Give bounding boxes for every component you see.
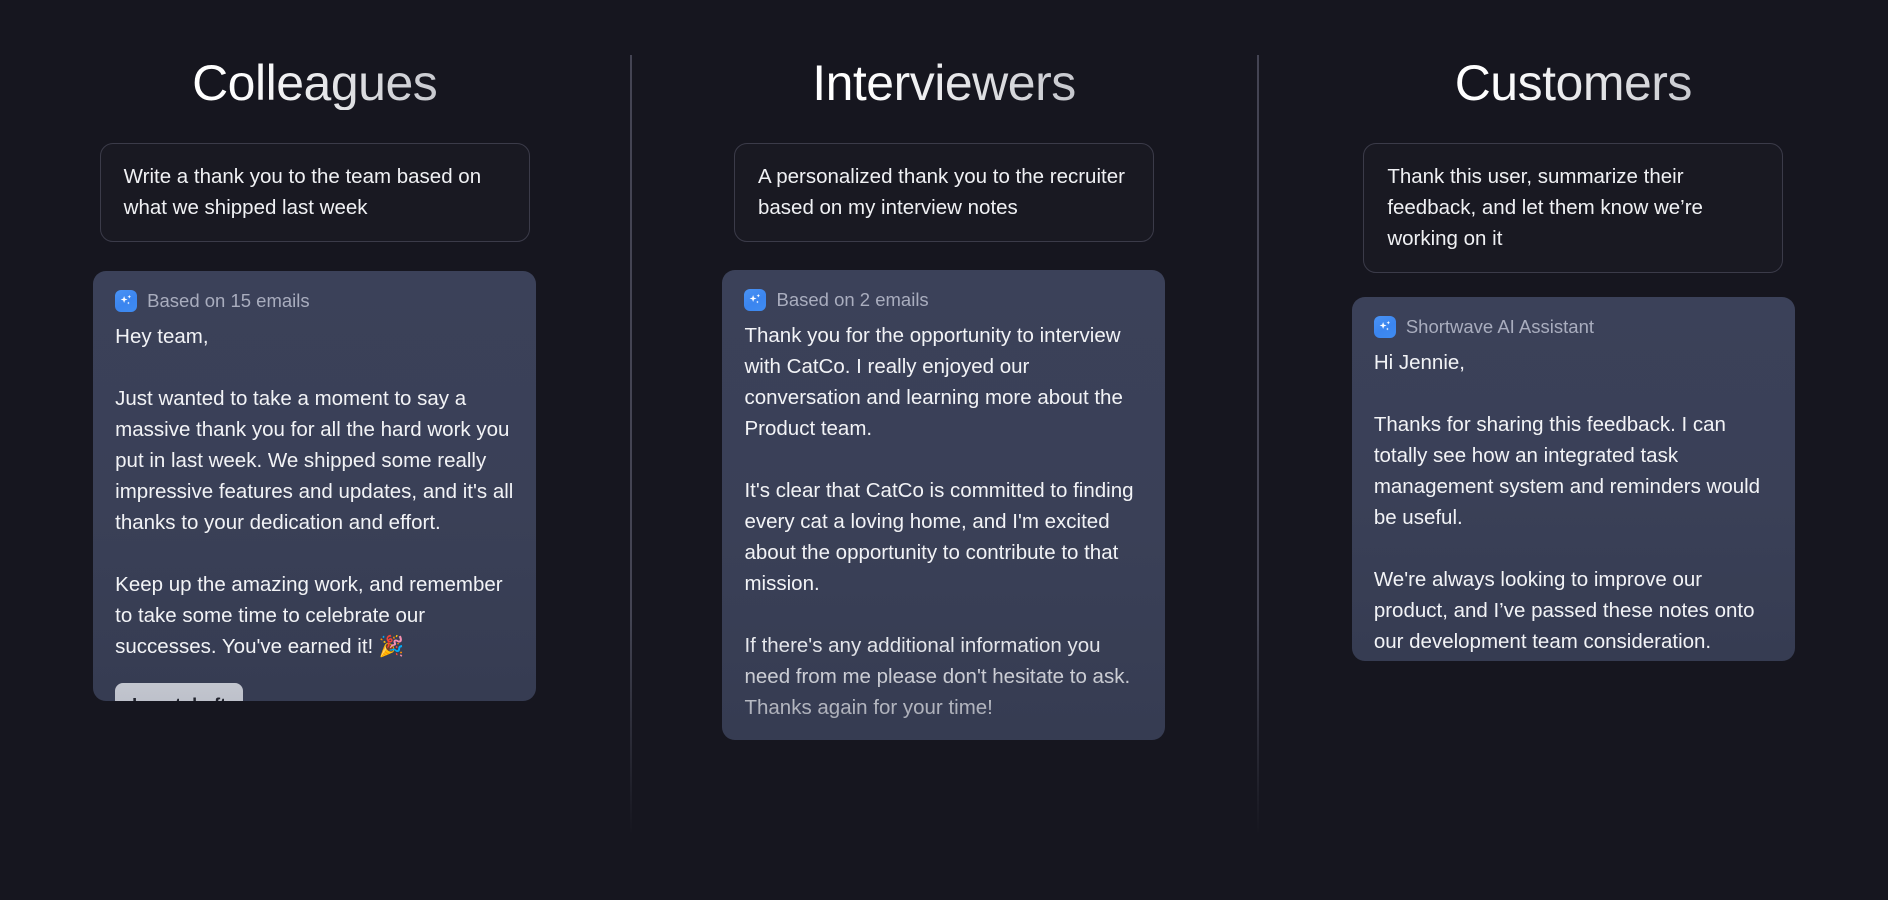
column-interviewers: Interviewers A personalized thank you to…: [629, 0, 1258, 900]
sparkle-icon: [115, 290, 137, 312]
column-customers: Customers Thank this user, summarize the…: [1259, 0, 1888, 900]
columns-container: Colleagues Write a thank you to the team…: [0, 0, 1888, 900]
page-title-colleagues: Colleagues: [0, 0, 629, 110]
page-root: Colleagues Write a thank you to the team…: [0, 0, 1888, 900]
card-source-label: Based on 15 emails: [147, 290, 310, 312]
card-source-label: Shortwave AI Assistant: [1406, 316, 1594, 338]
card-wrap-interviewers: Based on 2 emails Thank you for the oppo…: [629, 270, 1258, 740]
insert-draft-button[interactable]: Insert draft: [115, 683, 243, 701]
page-title-interviewers: Interviewers: [629, 0, 1258, 110]
prompt-bubble-interviewers[interactable]: A personalized thank you to the recruite…: [734, 143, 1154, 242]
prompt-wrap-colleagues: Write a thank you to the team based on w…: [0, 143, 629, 242]
sparkle-icon: [744, 289, 766, 311]
column-colleagues: Colleagues Write a thank you to the team…: [0, 0, 629, 900]
card-header-colleagues: Based on 15 emails: [115, 290, 514, 312]
card-wrap-colleagues: Based on 15 emails Hey team, Just wanted…: [0, 271, 629, 701]
prompt-bubble-customers[interactable]: Thank this user, summarize their feedbac…: [1363, 143, 1783, 273]
ai-draft-card-interviewers: Based on 2 emails Thank you for the oppo…: [722, 270, 1165, 740]
card-header-customers: Shortwave AI Assistant: [1374, 316, 1773, 338]
prompt-wrap-customers: Thank this user, summarize their feedbac…: [1259, 143, 1888, 273]
card-header-interviewers: Based on 2 emails: [744, 289, 1143, 311]
prompt-bubble-colleagues[interactable]: Write a thank you to the team based on w…: [100, 143, 530, 242]
ai-draft-card-colleagues: Based on 15 emails Hey team, Just wanted…: [93, 271, 536, 701]
card-body-text: Hi Jennie, Thanks for sharing this feedb…: [1374, 347, 1773, 657]
sparkle-icon: [1374, 316, 1396, 338]
page-title-customers: Customers: [1259, 0, 1888, 110]
card-body-text: Thank you for the opportunity to intervi…: [744, 320, 1143, 740]
card-body-text: Hey team, Just wanted to take a moment t…: [115, 321, 514, 662]
prompt-wrap-interviewers: A personalized thank you to the recruite…: [629, 143, 1258, 242]
card-source-label: Based on 2 emails: [776, 289, 928, 311]
card-wrap-customers: Shortwave AI Assistant Hi Jennie, Thanks…: [1259, 297, 1888, 661]
ai-draft-card-customers: Shortwave AI Assistant Hi Jennie, Thanks…: [1352, 297, 1795, 661]
